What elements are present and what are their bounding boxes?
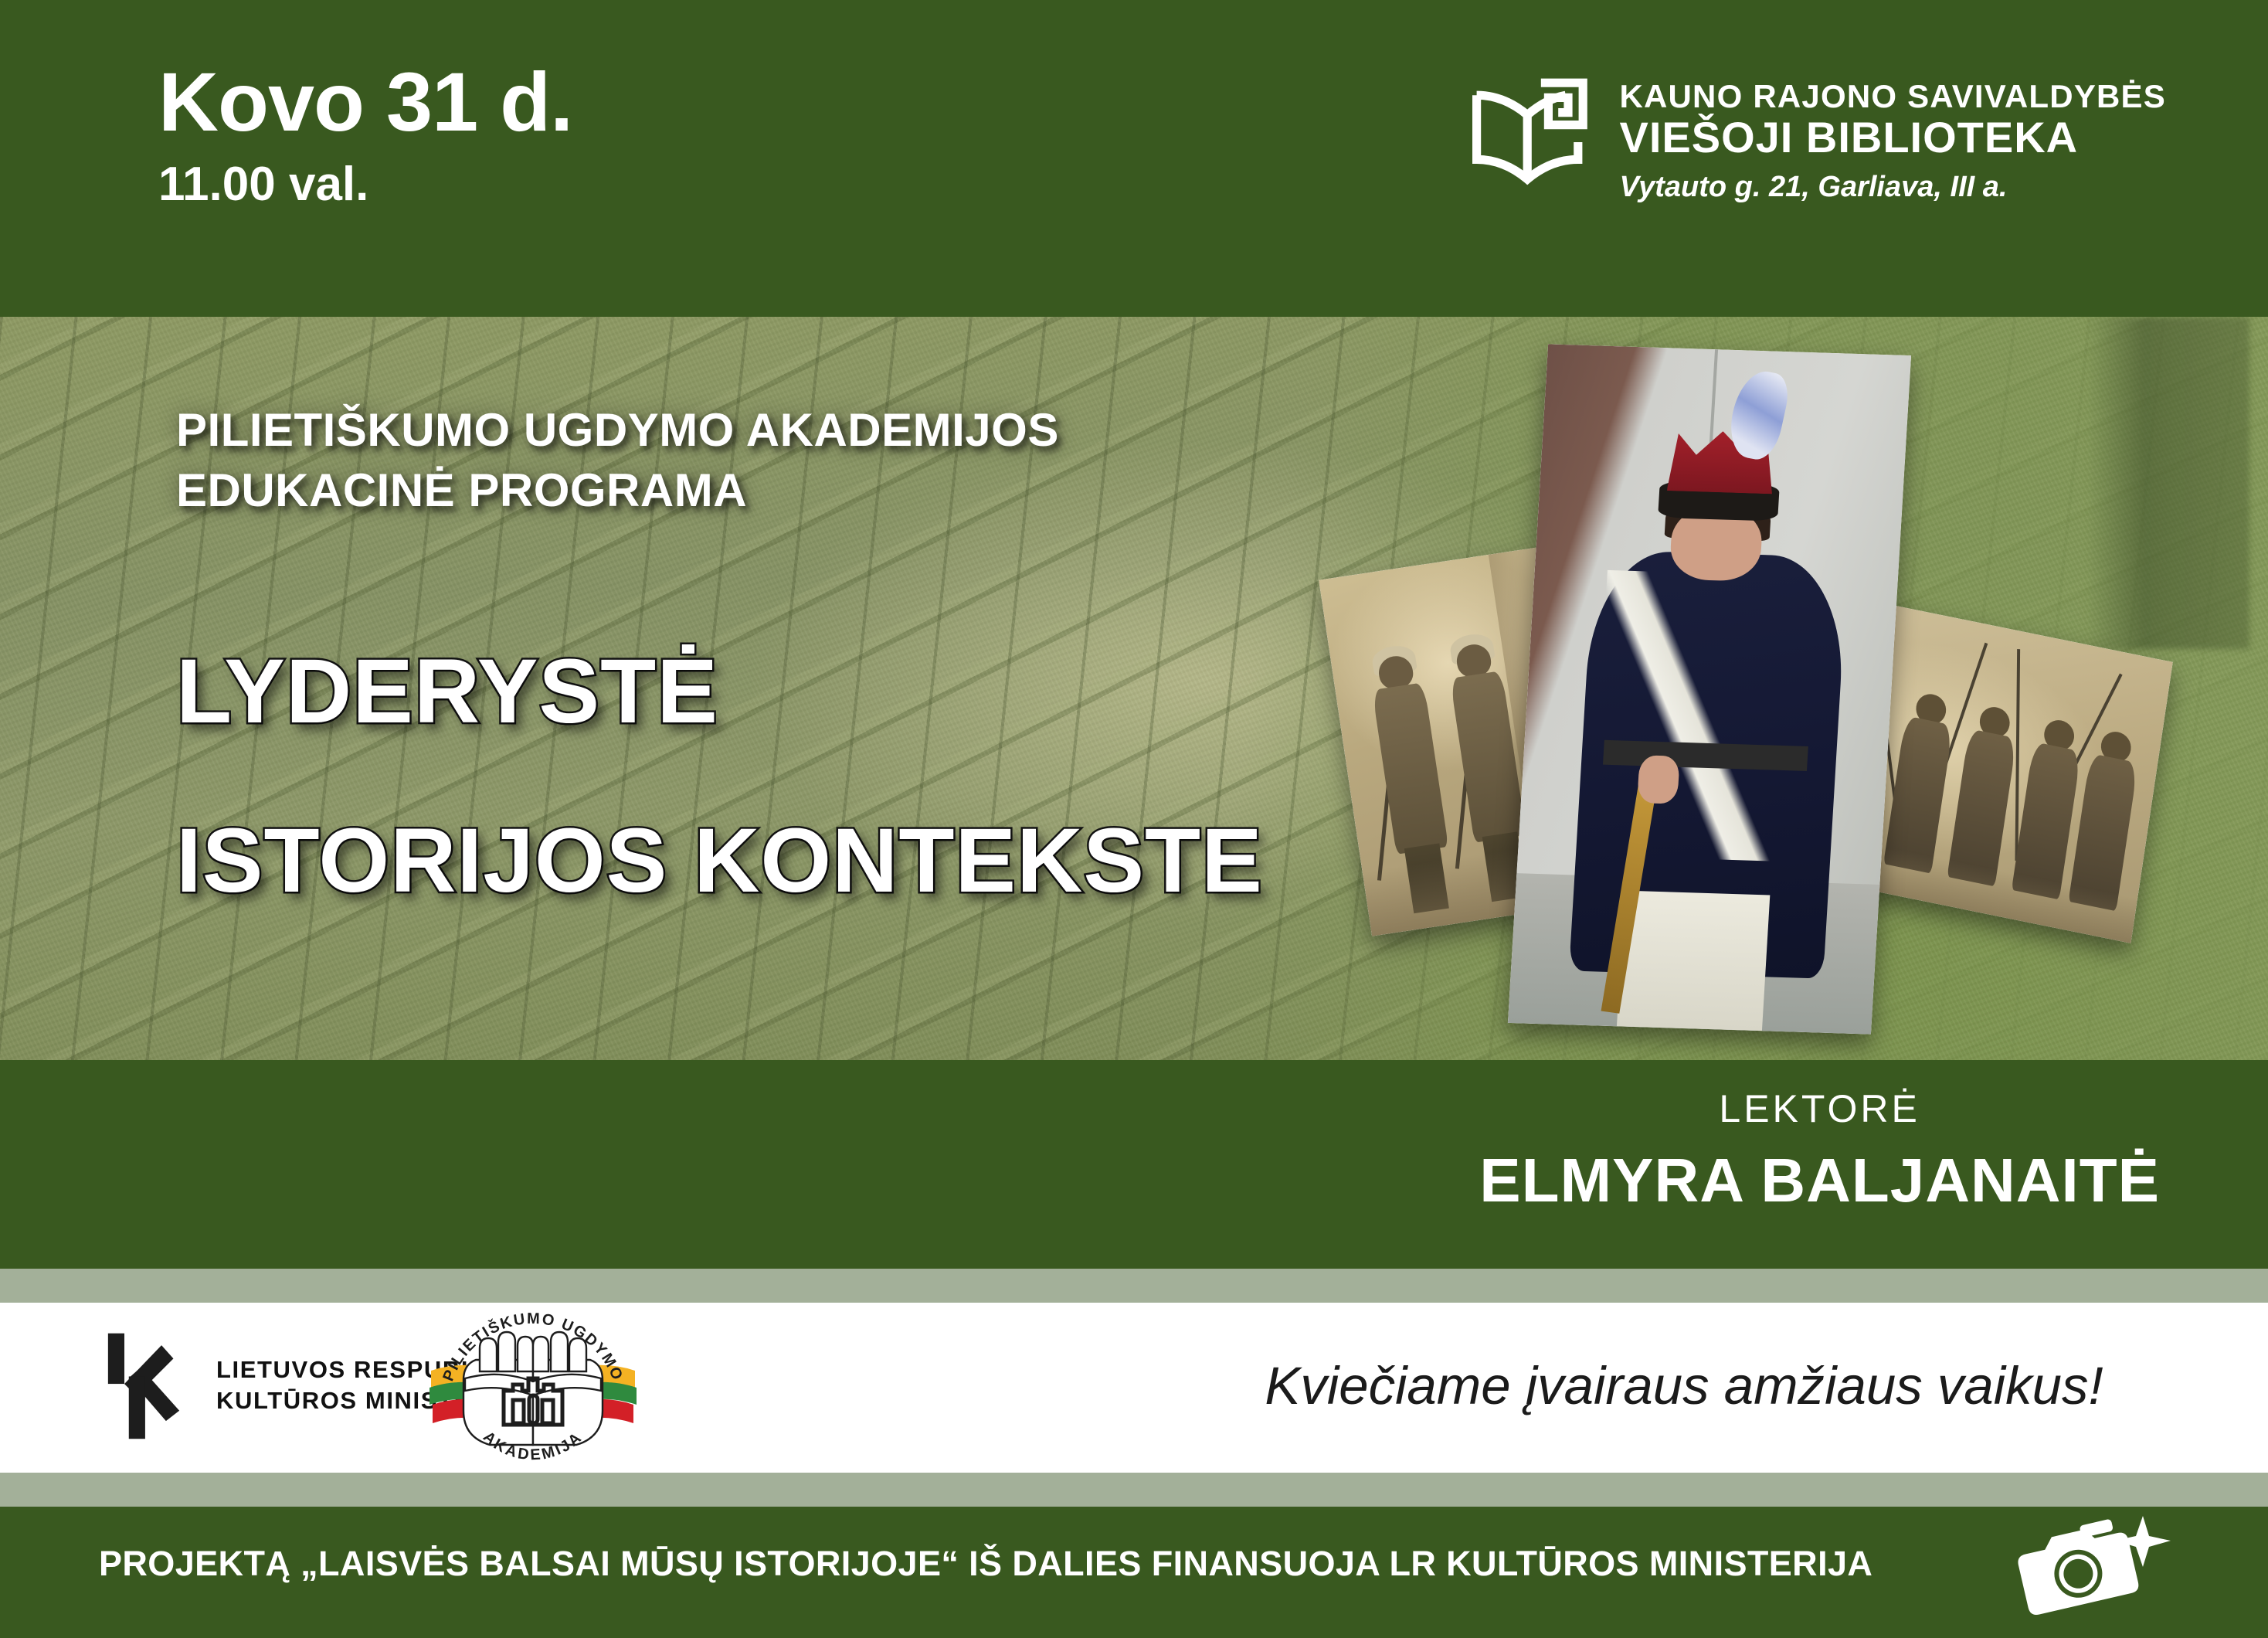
event-date-block: Kovo 31 d. 11.00 val. (158, 60, 572, 209)
hero-text-block: PILIETIŠKUMO UGDYMO AKADEMIJOS EDUKACINĖ… (176, 400, 1263, 946)
poster-root: Kovo 31 d. 11.00 val. KAUNO RAJONO SAVIV… (0, 0, 2268, 1638)
photo-collage (1344, 317, 2268, 1060)
header-bar: Kovo 31 d. 11.00 val. KAUNO RAJONO SAVIV… (0, 0, 2268, 317)
camera-flash-icon (1999, 1513, 2177, 1629)
main-title-line1: LYDERYSTĖ (176, 607, 1263, 777)
event-time: 11.00 val. (158, 161, 572, 209)
main-title-block: LYDERYSTĖ ISTORIJOS KONTEKSTE (176, 607, 1263, 946)
main-title-line2: ISTORIJOS KONTEKSTE (176, 777, 1263, 946)
lecturer-name: ELMYRA BALJANAITĖ (1479, 1144, 2160, 1217)
library-name-block: KAUNO RAJONO SAVIVALDYBĖS VIEŠOJI BIBLIO… (1619, 68, 2166, 206)
lecturer-role-label: LEKTORĖ (1479, 1088, 2160, 1130)
footer-funding-text: PROJEKTĄ „LAISVĖS BALSAI MŪSŲ ISTORIJOJE… (99, 1544, 1968, 1584)
lecturer-band: LEKTORĖ ELMYRA BALJANAITĖ (0, 1060, 2268, 1269)
reenactor-portrait-photo (1508, 344, 1911, 1034)
library-address: Vytauto g. 21, Garliava, III a. (1619, 168, 2166, 206)
open-book-labyrinth-icon (1469, 68, 1593, 192)
footer-bar: PROJEKTĄ „LAISVĖS BALSAI MŪSŲ ISTORIJOJE… (0, 1507, 2268, 1638)
ministry-k-mark-icon (94, 1327, 193, 1443)
invitation-text: Kviečiame įvairaus amžiaus vaikus! (1205, 1355, 2163, 1416)
sage-divider-bottom (0, 1473, 2268, 1507)
program-kicker-line1: PILIETIŠKUMO UGDYMO AKADEMIJOS (176, 400, 1263, 460)
academy-hands-book-tower-icon: PILIETIŠKUMO UGDYMO AKADEMIJA (417, 1304, 649, 1471)
library-line2: VIEŠOJI BIBLIOTEKA (1619, 114, 2166, 162)
library-line1: KAUNO RAJONO SAVIVALDYBĖS (1619, 79, 2166, 114)
event-date: Kovo 31 d. (158, 60, 572, 144)
library-logo-group: KAUNO RAJONO SAVIVALDYBĖS VIEŠOJI BIBLIO… (1469, 68, 2166, 206)
program-kicker-line2: EDUKACINĖ PROGRAMA (176, 460, 1263, 521)
hero-photo-band: PILIETIŠKUMO UGDYMO AKADEMIJOS EDUKACINĖ… (0, 317, 2268, 1060)
lecturer-block: LEKTORĖ ELMYRA BALJANAITĖ (1479, 1088, 2160, 1217)
sage-divider-top (0, 1269, 2268, 1303)
